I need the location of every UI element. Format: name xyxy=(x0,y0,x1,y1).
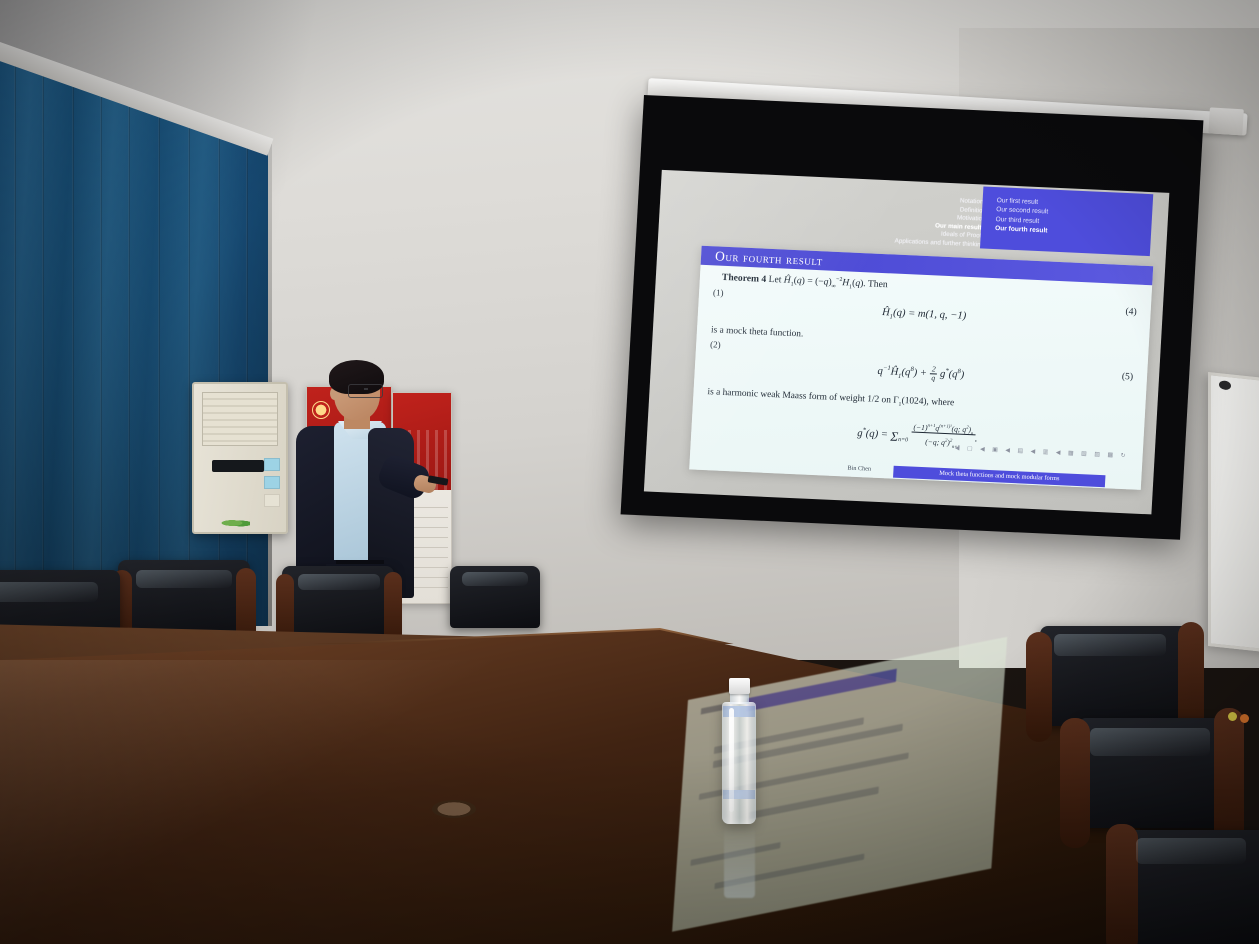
bottle-cap[interactable] xyxy=(729,678,750,694)
item-label-2: (2) xyxy=(710,339,721,349)
footer-author: Bin Chen xyxy=(847,465,871,473)
statement-2: is a harmonic weak Maass form of weight … xyxy=(707,387,954,410)
table-cable-grommet xyxy=(432,800,476,818)
whiteboard xyxy=(1208,372,1259,654)
eyeglasses-icon xyxy=(348,384,383,398)
whiteboard-clip-icon xyxy=(1219,380,1231,390)
equation-number-2: (5) xyxy=(1122,371,1134,382)
projection-screen: Notations Definition Motivation Our main… xyxy=(621,95,1204,540)
ac-vent xyxy=(202,392,278,446)
slide-nav-sections: Notations Definition Motivation Our main… xyxy=(856,193,987,253)
theorem-statement: Theorem 4 Let Ĥ1(q) = (−q)∞−2H1(q). Then xyxy=(722,272,888,293)
equation-2: q−1Ĥ1(q8) + 2q g*(q8) xyxy=(695,355,1148,393)
screen-housing-cap xyxy=(1208,107,1243,135)
ac-button[interactable] xyxy=(264,458,280,471)
bottle-highlight xyxy=(729,708,734,812)
decor-sphere xyxy=(1240,714,1249,723)
conference-room-photo: Notations Definition Motivation Our main… xyxy=(0,0,1259,944)
slide-nav-subsections: Our first result Our second result Our t… xyxy=(980,186,1153,256)
bottle-reflection xyxy=(724,824,755,898)
equation-number-1: (4) xyxy=(1125,306,1137,317)
ac-button[interactable] xyxy=(264,476,280,489)
bottle-label xyxy=(723,706,755,717)
air-conditioner-unit xyxy=(192,382,288,534)
bottle-body xyxy=(722,702,756,824)
statement-1: is a mock theta function. xyxy=(711,325,804,339)
theorem-label: Theorem 4 xyxy=(722,272,767,285)
water-bottle[interactable] xyxy=(718,678,760,834)
ac-display xyxy=(212,460,264,472)
item-label-1: (1) xyxy=(713,287,724,297)
decor-sphere xyxy=(1228,712,1237,721)
slide-content: Theorem 4 Let Ĥ1(q) = (−q)∞−2H1(q). Then… xyxy=(690,267,1152,476)
bottle-label-lower xyxy=(723,790,755,799)
theorem-intro: Let Ĥ1(q) = (−q)∞−2H1(q). Then xyxy=(768,274,888,290)
ac-decal xyxy=(220,518,250,528)
ac-button[interactable] xyxy=(264,494,280,507)
projected-image: Notations Definition Motivation Our main… xyxy=(644,170,1169,515)
slide-frame: Our fourth result Theorem 4 Let Ĥ1(q) = … xyxy=(689,246,1153,490)
